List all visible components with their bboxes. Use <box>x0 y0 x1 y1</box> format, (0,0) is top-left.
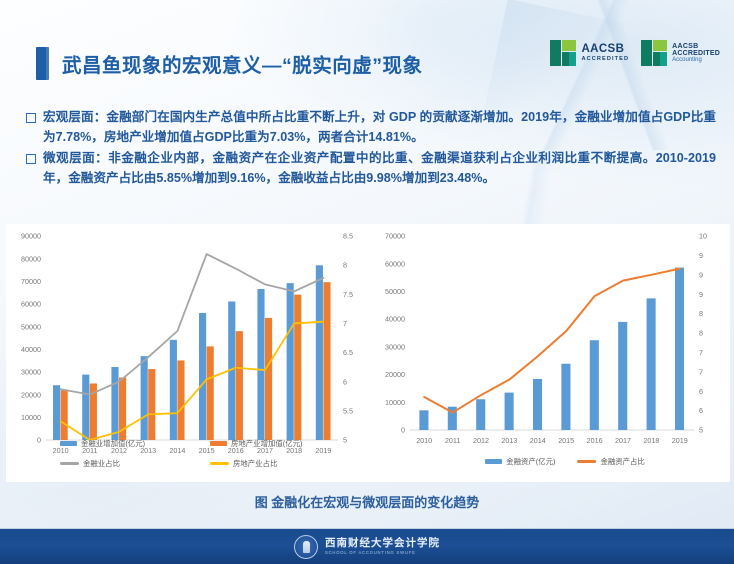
legend-item: 房地产业占比 <box>210 458 360 469</box>
aacsb-badge: AACSB ACCREDITED <box>550 40 629 66</box>
legend-label: 金融业占比 <box>83 458 120 469</box>
svg-text:6: 6 <box>699 387 703 396</box>
svg-text:8: 8 <box>343 261 347 270</box>
svg-text:2010: 2010 <box>416 436 432 445</box>
svg-text:8.5: 8.5 <box>343 232 353 241</box>
svg-text:9: 9 <box>699 270 703 279</box>
svg-text:7: 7 <box>699 367 703 376</box>
legend-bar-swatch <box>60 441 77 446</box>
svg-text:90000: 90000 <box>21 232 41 241</box>
svg-text:60000: 60000 <box>385 259 405 268</box>
svg-text:0: 0 <box>401 426 405 435</box>
legend-label: 金融业增加值(亿元) <box>81 438 145 449</box>
svg-text:2019: 2019 <box>672 436 688 445</box>
legend-item: 金融业增加值(亿元) <box>60 438 210 449</box>
bullet-item-micro: 微观层面：非金融企业内部，金融资产在企业资产配置中的比重、金融渠道获利占企业利润… <box>26 149 716 188</box>
figure-caption: 图 金融化在宏观与微观层面的变化趋势 <box>0 492 734 511</box>
svg-text:9: 9 <box>699 251 703 260</box>
svg-text:2015: 2015 <box>558 436 574 445</box>
legend-item: 金融资产占比 <box>577 456 644 467</box>
chart-macro-legend: 金融业增加值(亿元)房地产业增加值(亿元)金融业占比房地产业占比 <box>60 438 360 478</box>
svg-text:8: 8 <box>699 309 703 318</box>
aacsb-accounting-line3: Accounting <box>672 57 720 63</box>
svg-text:10000: 10000 <box>385 398 405 407</box>
svg-text:7.5: 7.5 <box>343 290 353 299</box>
slide-canvas: 武昌鱼现象的宏观意义—“脱实向虚”现象 AACSB ACCREDITED AAC… <box>0 0 734 564</box>
svg-text:2014: 2014 <box>530 436 546 445</box>
svg-text:30000: 30000 <box>21 368 41 377</box>
bullet-square-icon <box>26 113 36 123</box>
svg-text:60000: 60000 <box>21 300 41 309</box>
legend-line-swatch <box>60 462 79 464</box>
bullet-list: 宏观层面：金融部门在国内生产总值中所占比重不断上升，对 GDP 的贡献逐渐增加。… <box>26 108 716 190</box>
accreditation-badges: AACSB ACCREDITED AACSB ACCREDITED Accoun… <box>550 40 720 66</box>
aacsb-accounting-logo-icon <box>641 40 667 66</box>
svg-text:40000: 40000 <box>385 315 405 324</box>
svg-text:10000: 10000 <box>21 413 41 422</box>
svg-text:5.5: 5.5 <box>343 406 353 415</box>
svg-text:40000: 40000 <box>21 345 41 354</box>
svg-text:2012: 2012 <box>473 436 489 445</box>
university-seal-icon <box>294 535 318 559</box>
svg-text:6.5: 6.5 <box>343 348 353 357</box>
chart-micro-legend: 金融资产(亿元)金融资产占比 <box>430 456 700 467</box>
aacsb-badge-line1: AACSB <box>581 44 629 56</box>
legend-label: 金融资产占比 <box>600 456 644 467</box>
page-title: 武昌鱼现象的宏观意义—“脱实向虚”现象 <box>62 49 423 78</box>
svg-text:20000: 20000 <box>21 390 41 399</box>
svg-text:2011: 2011 <box>445 436 460 445</box>
footer-institution-subtitle: SCHOOL OF ACCOUNTING SWUFE <box>325 550 440 555</box>
svg-text:6: 6 <box>699 406 703 415</box>
svg-text:70000: 70000 <box>385 232 405 241</box>
legend-bar-swatch <box>485 459 502 464</box>
legend-label: 金融资产(亿元) <box>506 456 555 467</box>
svg-text:2017: 2017 <box>615 436 631 445</box>
bullet-text-macro: 宏观层面：金融部门在国内生产总值中所占比重不断上升，对 GDP 的贡献逐渐增加。… <box>43 108 716 147</box>
svg-text:2013: 2013 <box>501 436 517 445</box>
legend-line-swatch <box>210 462 229 464</box>
aacsb-badge-line2: ACCREDITED <box>581 56 629 62</box>
svg-text:50000: 50000 <box>21 322 41 331</box>
legend-bar-swatch <box>210 441 227 446</box>
bullet-item-macro: 宏观层面：金融部门在国内生产总值中所占比重不断上升，对 GDP 的贡献逐渐增加。… <box>26 108 716 147</box>
legend-label: 房地产业增加值(亿元) <box>231 438 302 449</box>
svg-text:9: 9 <box>699 290 703 299</box>
svg-text:80000: 80000 <box>21 254 41 263</box>
slide-footer: 西南财经大学会计学院 SCHOOL OF ACCOUNTING SWUFE <box>0 529 734 564</box>
aacsb-accounting-line1: AACSB <box>672 43 720 50</box>
svg-text:6: 6 <box>343 377 347 386</box>
legend-label: 房地产业占比 <box>233 458 277 469</box>
chart-micro-financial-assets: 0100002000030000400005000060000700005667… <box>364 224 730 482</box>
footer-institution-name: 西南财经大学会计学院 <box>325 538 440 550</box>
svg-text:7: 7 <box>343 319 347 328</box>
svg-text:2018: 2018 <box>643 436 659 445</box>
svg-text:7: 7 <box>699 348 703 357</box>
bullet-square-icon <box>26 154 36 164</box>
svg-text:5: 5 <box>699 426 703 435</box>
bullet-text-micro: 微观层面：非金融企业内部，金融资产在企业资产配置中的比重、金融渠道获利占企业利润… <box>43 149 716 188</box>
svg-text:70000: 70000 <box>21 277 41 286</box>
svg-text:8: 8 <box>699 329 703 338</box>
svg-text:20000: 20000 <box>385 370 405 379</box>
aacsb-accounting-badge: AACSB ACCREDITED Accounting <box>641 40 720 66</box>
title-accent-bar <box>36 47 49 80</box>
legend-item: 金融资产(亿元) <box>485 456 555 467</box>
slide-header: 武昌鱼现象的宏观意义—“脱实向虚”现象 <box>36 47 423 80</box>
aacsb-logo-icon <box>550 40 576 66</box>
svg-text:0: 0 <box>37 436 41 445</box>
legend-item: 房地产业增加值(亿元) <box>210 438 360 449</box>
legend-line-swatch <box>577 460 596 462</box>
svg-text:50000: 50000 <box>385 287 405 296</box>
aacsb-accounting-line2: ACCREDITED <box>672 50 720 57</box>
svg-text:30000: 30000 <box>385 342 405 351</box>
svg-text:2016: 2016 <box>587 436 603 445</box>
svg-text:10: 10 <box>699 232 707 241</box>
legend-item: 金融业占比 <box>60 458 210 469</box>
